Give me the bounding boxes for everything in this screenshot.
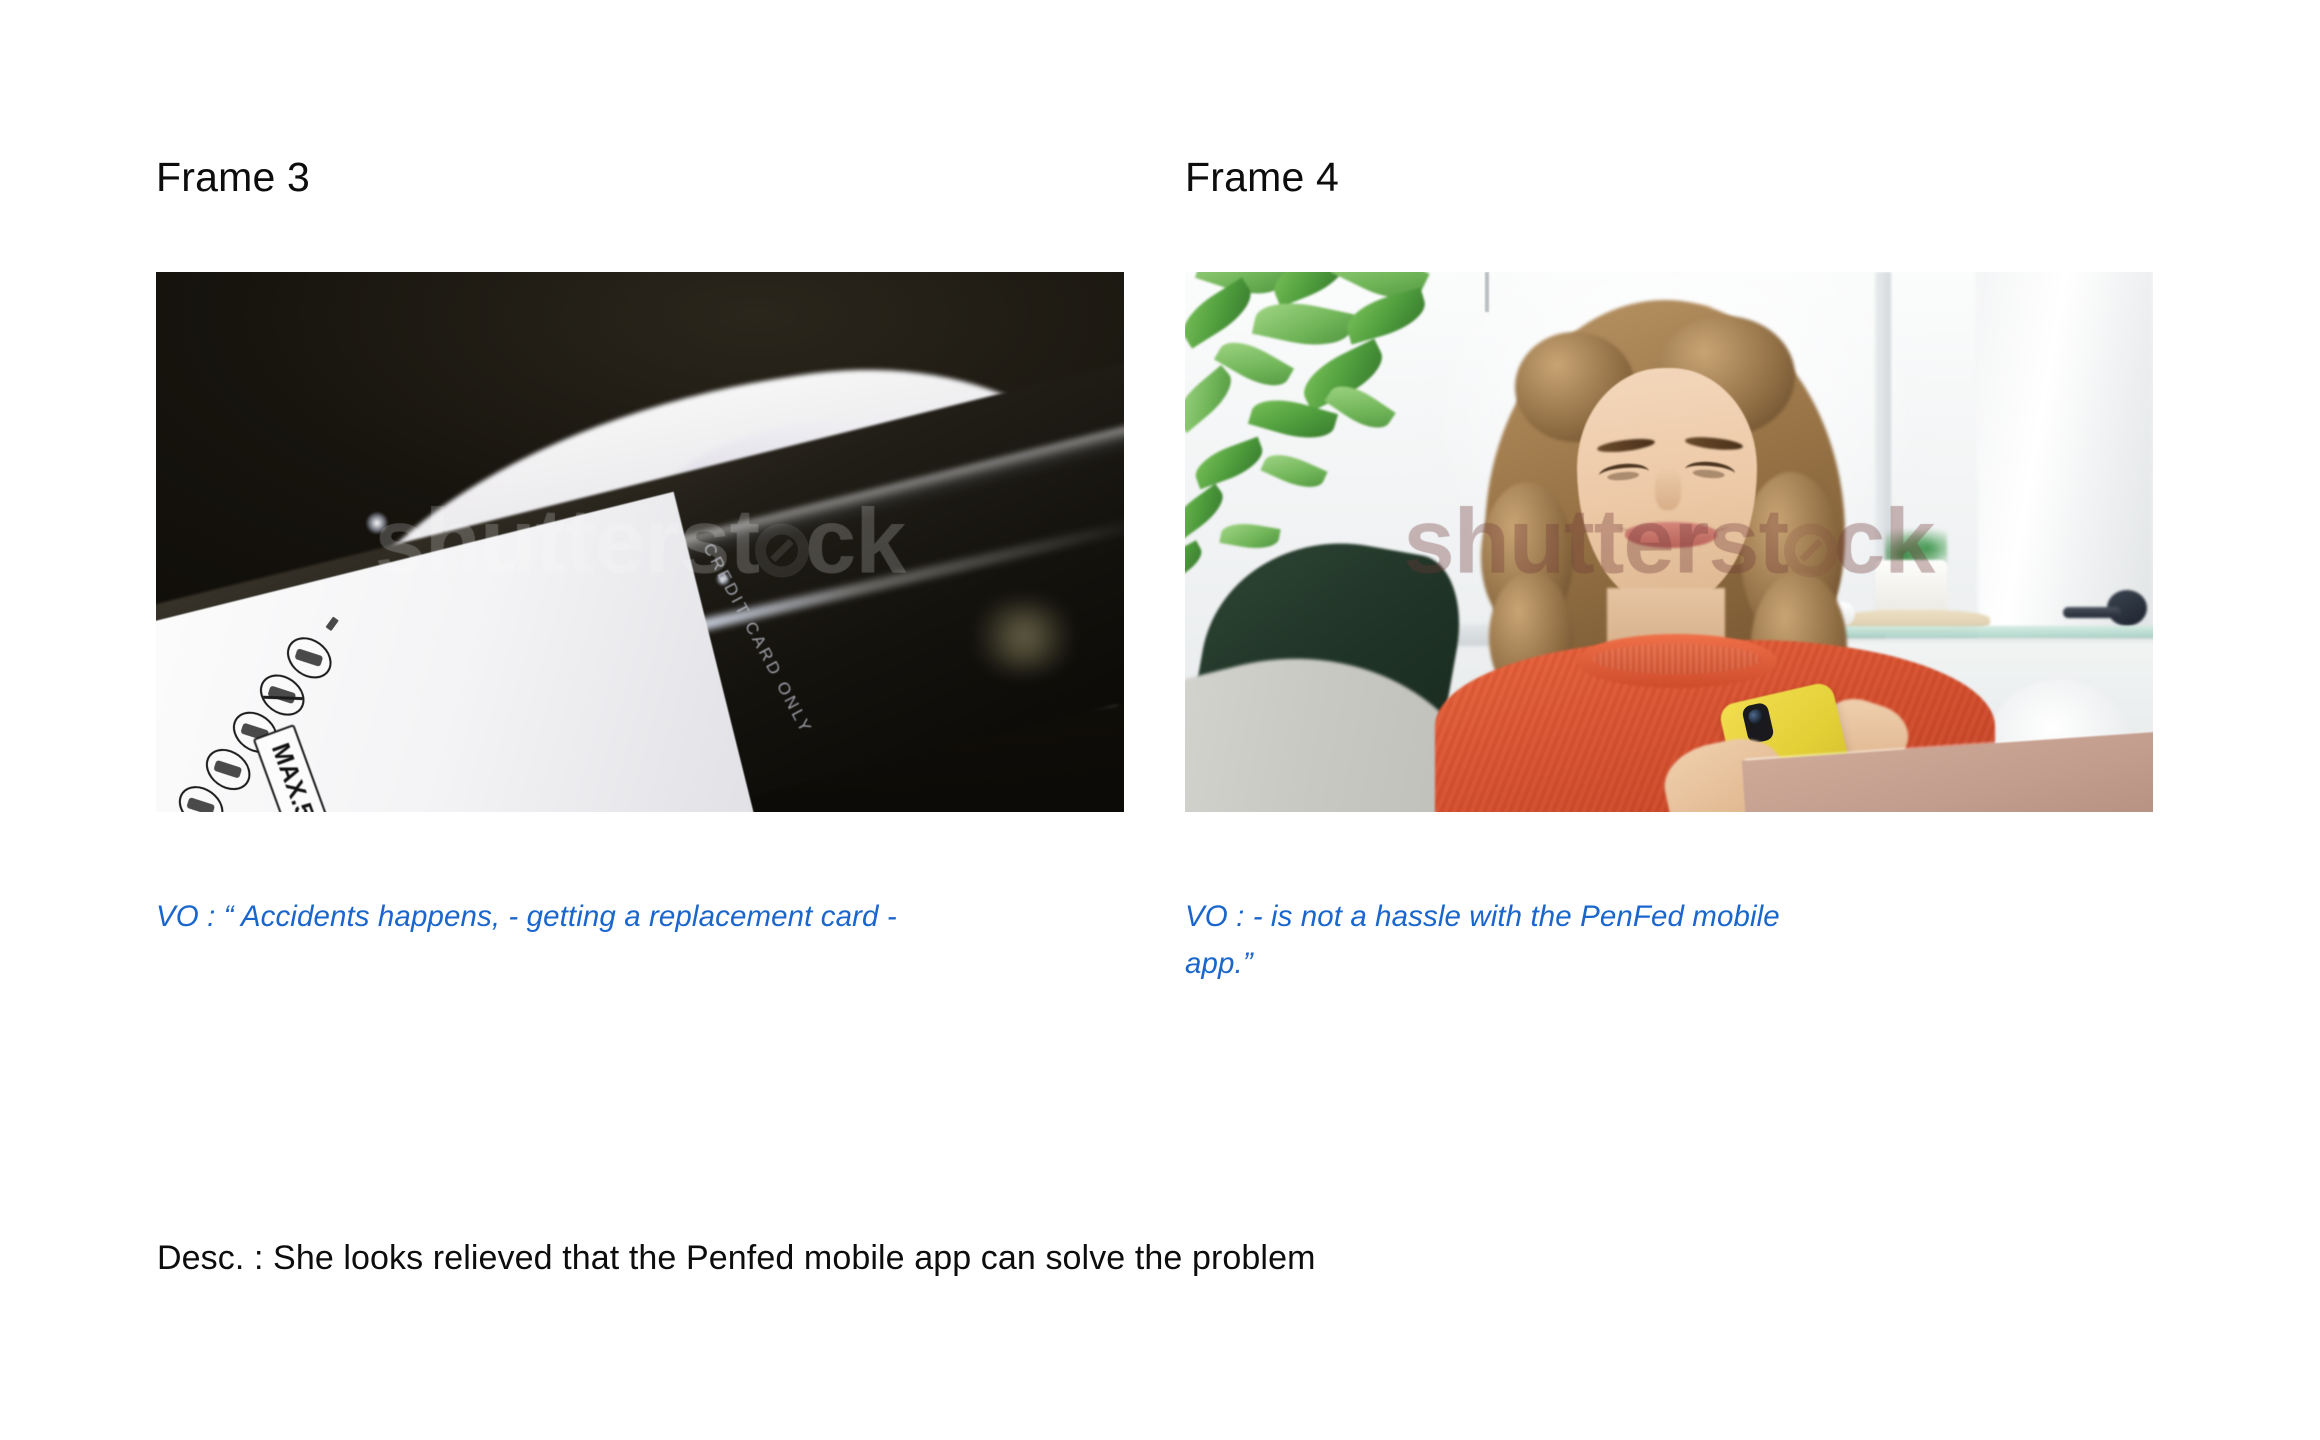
frame-3-title: Frame 3 (156, 152, 310, 202)
light-speck (366, 512, 388, 534)
lips (1625, 522, 1717, 548)
frame-4-title: Frame 4 (1185, 152, 1339, 202)
shelf-dark-object (2063, 590, 2147, 626)
frame-3-caption: VO : “ Accidents happens, - getting a re… (156, 893, 1036, 940)
storyboard-page: Frame 3 (0, 0, 2320, 1440)
glass-shelf (1805, 626, 2153, 638)
frame-3-image: MAX.5 sheets CREDIT CARD ONLY shutterstc… (156, 272, 1124, 812)
sweater-collar (1577, 634, 1777, 688)
description-text: Desc. : She looks relieved that the Penf… (157, 1236, 1316, 1280)
frame-4-image: shutterstck (1185, 272, 2153, 812)
woman-with-phone-photo: shutterstck (1185, 272, 2153, 812)
frame-4-caption: VO : - is not a hassle with the PenFed m… (1185, 893, 1845, 987)
warm-glow (964, 602, 1084, 672)
nose (1655, 468, 1681, 510)
shredder-photo: MAX.5 sheets CREDIT CARD ONLY shutterstc… (156, 272, 1124, 812)
